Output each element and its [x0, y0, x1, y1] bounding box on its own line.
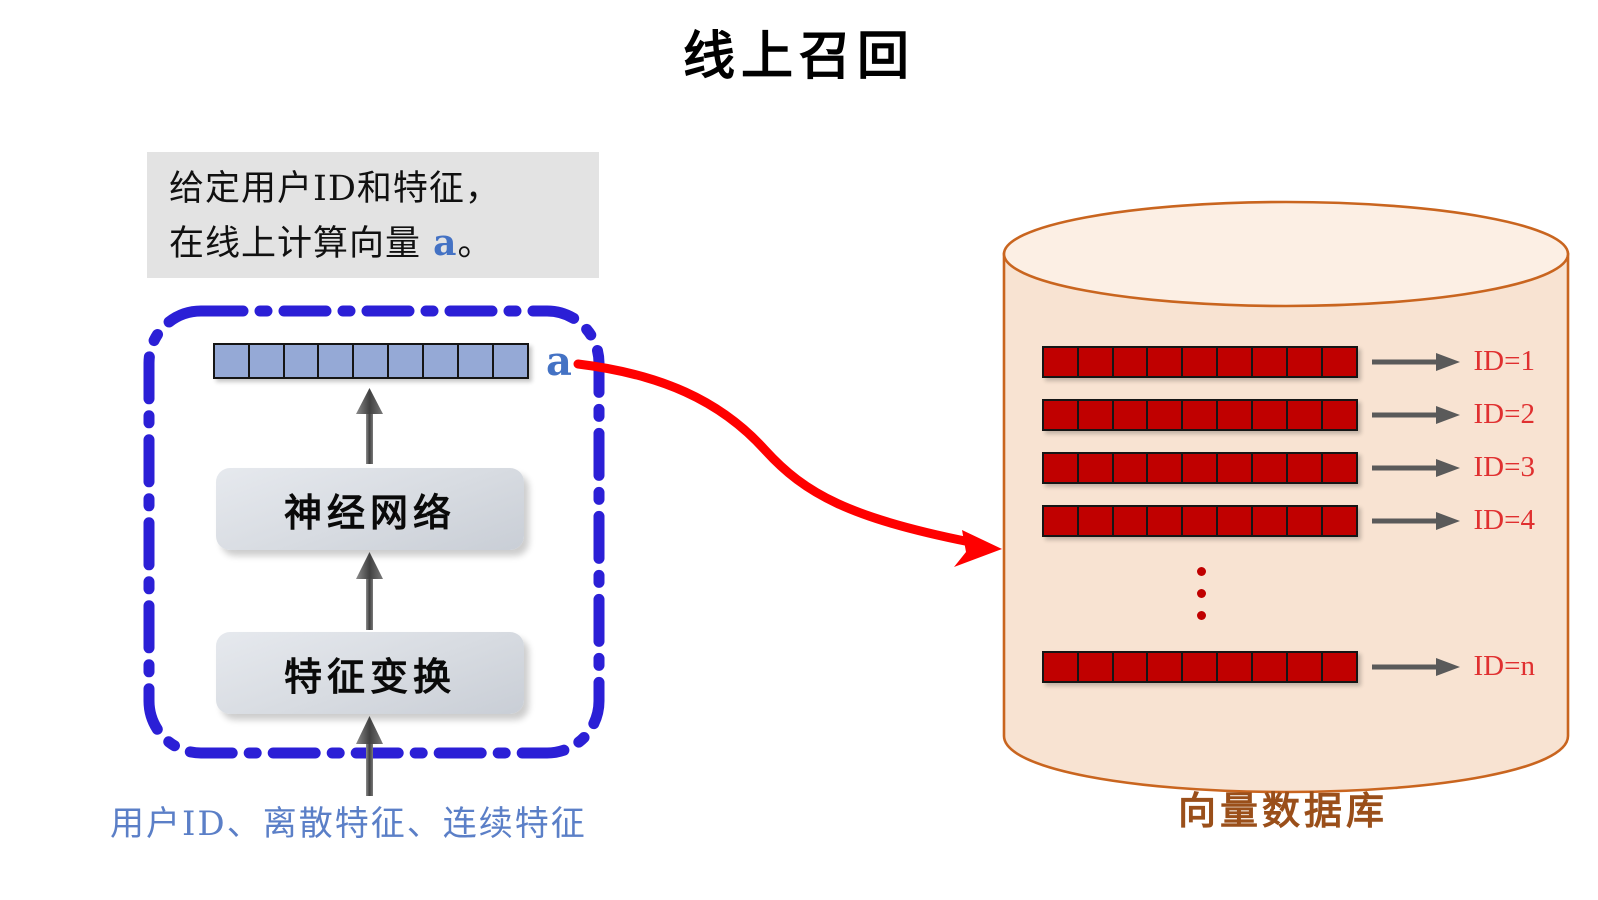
- process-box-feature-transform-label: 特征变换: [284, 646, 456, 701]
- diagram-canvas: 线上召回 给定用户ID和特征， 在线上计算向量 a。 a: [0, 0, 1598, 900]
- vector-cell: [1181, 651, 1218, 683]
- database-row-id: ID=2: [1474, 398, 1535, 431]
- vector-cell: [1077, 399, 1114, 431]
- database-row-cells: [1042, 399, 1358, 431]
- vector-cell: [317, 343, 354, 379]
- vector-a: [213, 343, 529, 379]
- vector-cell: [1077, 651, 1114, 683]
- vector-cell: [1216, 452, 1253, 484]
- caption-box: 给定用户ID和特征， 在线上计算向量 a。: [147, 152, 599, 278]
- process-box-neural-network[interactable]: 神经网络: [216, 468, 524, 550]
- vector-cell: [1042, 651, 1079, 683]
- vector-cell: [1181, 505, 1218, 537]
- vector-cell: [213, 343, 250, 379]
- vector-cell: [1181, 452, 1218, 484]
- vector-cell: [1321, 346, 1358, 378]
- database-row-arrow: [1372, 458, 1462, 478]
- database-row: ID=2: [1042, 398, 1535, 431]
- database-row-arrow: [1372, 352, 1462, 372]
- vector-cell: [1321, 651, 1358, 683]
- cylinder-top: [1004, 202, 1568, 306]
- vector-cell: [1216, 346, 1253, 378]
- vector-cell: [1286, 452, 1323, 484]
- vector-cell: [1181, 346, 1218, 378]
- vector-cell: [1251, 399, 1288, 431]
- vector-cell: [1251, 346, 1288, 378]
- arrow-featuretransform-to-nn: [352, 552, 388, 630]
- vector-cell: [352, 343, 389, 379]
- database-row: ID=n: [1042, 650, 1535, 683]
- red-arrowhead: [954, 530, 1002, 567]
- database-row-cells: [1042, 651, 1358, 683]
- vector-cell: [1286, 346, 1323, 378]
- caption-line-2: 在线上计算向量 a。: [169, 216, 577, 271]
- vector-cell: [1077, 505, 1114, 537]
- vector-cell: [1146, 399, 1183, 431]
- vector-cell: [1286, 399, 1323, 431]
- vector-cell: [1146, 505, 1183, 537]
- vector-cell: [1077, 346, 1114, 378]
- retrieval-link-arrow: [570, 330, 1030, 580]
- vector-cell: [1251, 452, 1288, 484]
- caption-line-2-prefix: 在线上计算向量: [169, 224, 433, 264]
- vector-cell: [1321, 452, 1358, 484]
- database-row: ID=3: [1042, 451, 1535, 484]
- database-row-id: ID=3: [1474, 451, 1535, 484]
- ellipsis-dot: [1197, 567, 1206, 576]
- database-ellipsis: [1197, 567, 1206, 620]
- vector-cell: [1216, 399, 1253, 431]
- vector-cell: [387, 343, 424, 379]
- vector-cell: [492, 343, 529, 379]
- vector-cell: [283, 343, 320, 379]
- vector-a-label: a: [546, 338, 572, 385]
- database-row-id: ID=n: [1474, 650, 1535, 683]
- vector-cell: [422, 343, 459, 379]
- vector-cell: [1112, 399, 1149, 431]
- vector-cell: [1112, 651, 1149, 683]
- red-curve-path: [578, 364, 970, 542]
- vector-cell: [1216, 505, 1253, 537]
- vector-cell: [1181, 399, 1218, 431]
- vector-cell: [1146, 346, 1183, 378]
- vector-cell: [1286, 505, 1323, 537]
- vector-cell: [1112, 346, 1149, 378]
- caption-line-2-suffix: 。: [457, 224, 493, 264]
- input-features-label: 用户ID、离散特征、连续特征: [110, 796, 587, 845]
- vector-cell: [1077, 452, 1114, 484]
- database-row-id: ID=1: [1474, 345, 1535, 378]
- vector-cell: [1321, 505, 1358, 537]
- database-row: ID=4: [1042, 504, 1535, 537]
- vector-cell: [1321, 399, 1358, 431]
- database-row-arrow: [1372, 657, 1462, 677]
- vector-cell: [1251, 505, 1288, 537]
- caption-line-1: 给定用户ID和特征，: [169, 162, 577, 216]
- ellipsis-dot: [1197, 589, 1206, 598]
- vector-cell: [1042, 346, 1079, 378]
- process-box-feature-transform[interactable]: 特征变换: [216, 632, 524, 714]
- caption-vector-a: a: [433, 222, 457, 264]
- vector-cell: [1286, 651, 1323, 683]
- vector-cell: [1042, 399, 1079, 431]
- database-row-arrow: [1372, 511, 1462, 531]
- vector-cell: [1112, 452, 1149, 484]
- vector-cell: [1251, 651, 1288, 683]
- database-row-cells: [1042, 452, 1358, 484]
- database-row-id: ID=4: [1474, 504, 1535, 537]
- page-title: 线上召回: [0, 14, 1598, 89]
- vector-cell: [1112, 505, 1149, 537]
- vector-cell: [1146, 651, 1183, 683]
- ellipsis-dot: [1197, 611, 1206, 620]
- process-box-neural-network-label: 神经网络: [284, 482, 456, 537]
- vector-cell: [1146, 452, 1183, 484]
- vector-a-cells: [213, 343, 529, 379]
- vector-cell: [1216, 651, 1253, 683]
- database-row-arrow: [1372, 405, 1462, 425]
- database-row: ID=1: [1042, 345, 1535, 378]
- vector-cell: [1042, 505, 1079, 537]
- arrow-nn-to-vector: [352, 388, 388, 464]
- arrow-input-to-featuretransform: [352, 716, 388, 796]
- database-row-cells: [1042, 346, 1358, 378]
- vector-cell: [1042, 452, 1079, 484]
- database-row-cells: [1042, 505, 1358, 537]
- vector-database-caption: 向量数据库: [1178, 780, 1388, 835]
- vector-cell: [457, 343, 494, 379]
- vector-database-cylinder: [998, 196, 1574, 796]
- vector-cell: [248, 343, 285, 379]
